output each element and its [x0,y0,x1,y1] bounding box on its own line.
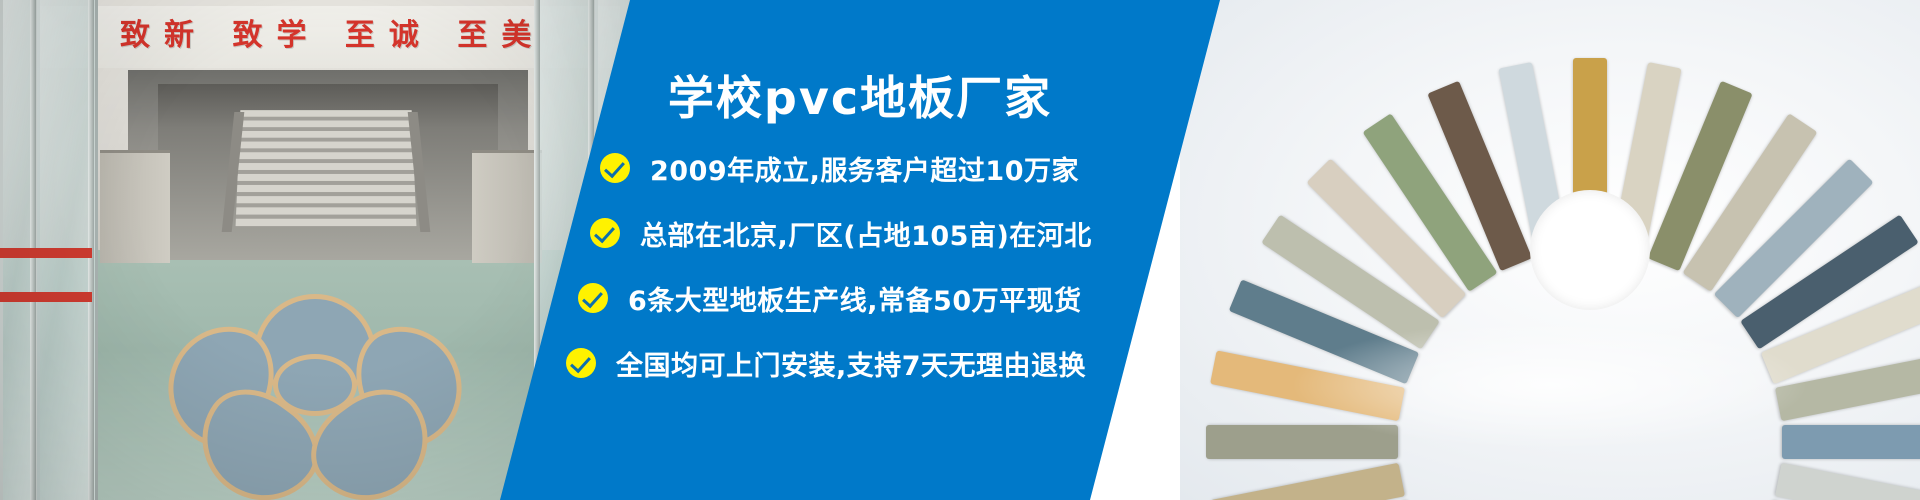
list-item-label: 6条大型地板生产线,常备50万平现货 [628,279,1082,318]
check-circle-icon [600,153,630,183]
feature-list: 2009年成立,服务客户超过10万家 总部在北京,厂区(占地105亩)在河北 6… [586,140,1196,400]
list-item: 全国均可上门安装,支持7天无理由退换 [566,335,1196,391]
color-fan-blade [1210,463,1405,500]
flower-center [273,354,357,416]
color-fan-blade [1775,463,1920,500]
wall-slogan-text: 致新 致学 至诚 至美 [120,10,540,54]
list-item: 2009年成立,服务客户超过10万家 [600,140,1196,196]
staircase [236,110,417,227]
list-item-label: 全国均可上门安装,支持7天无理由退换 [616,344,1086,383]
list-item: 总部在北京,厂区(占地105亩)在河北 [590,205,1196,261]
floor-flower-inlay [145,300,475,450]
color-fan-blade [1782,425,1920,459]
color-fan-blade [1206,425,1398,459]
color-fan-hub [1530,190,1650,310]
list-item-label: 2009年成立,服务客户超过10万家 [650,149,1079,188]
list-item-label: 总部在北京,厂区(占地105亩)在河北 [640,214,1092,253]
door-red-stripe [0,248,92,258]
product-showcase-panel [1180,0,1920,500]
check-circle-icon [578,283,608,313]
check-circle-icon [590,218,620,248]
side-wall-left [100,150,170,263]
list-item: 6条大型地板生产线,常备50万平现货 [578,270,1196,326]
check-circle-icon [566,348,596,378]
blue-panel-content: 学校pvc地板厂家 2009年成立,服务客户超过10万家 总部在北京,厂区(占地… [500,0,1220,500]
pvc-flooring-color-fan [1370,30,1810,470]
door-red-stripe [0,292,92,302]
page-title: 学校pvc地板厂家 [500,62,1220,128]
promotional-banner: 致新 致学 至诚 至美 学校pvc地板厂家 2009年成立,服务客户超过10万家 [0,0,1920,500]
